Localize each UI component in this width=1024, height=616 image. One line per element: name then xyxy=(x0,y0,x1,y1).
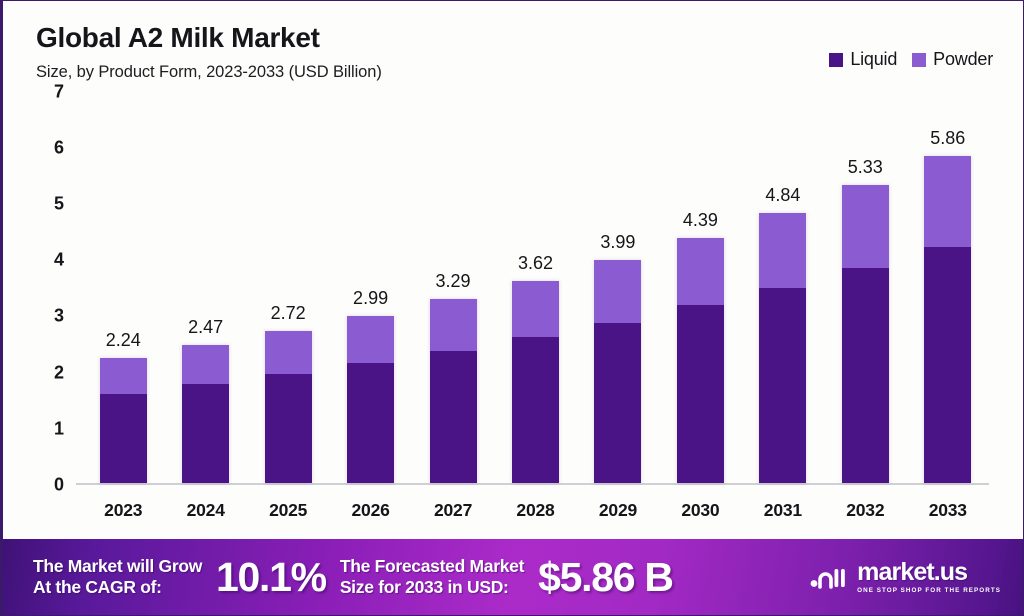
bar-value-label: 3.29 xyxy=(436,271,471,292)
chart-legend: Liquid Powder xyxy=(829,49,993,70)
bar-value-label: 3.62 xyxy=(518,253,553,274)
x-axis-tick: 2024 xyxy=(164,500,246,521)
bar-segment-liquid[interactable] xyxy=(347,363,394,483)
x-axis-tick: 2030 xyxy=(659,500,741,521)
bar-segment-powder[interactable] xyxy=(265,331,312,374)
bar-value-label: 5.86 xyxy=(930,128,965,149)
bar-column[interactable]: 2.72 xyxy=(247,92,329,483)
y-axis-tick: 4 xyxy=(54,250,64,271)
legend-swatch-liquid xyxy=(829,53,843,67)
bar-column[interactable]: 5.86 xyxy=(907,92,989,483)
bar-segment-powder[interactable] xyxy=(842,185,889,268)
cagr-value: 10.1% xyxy=(216,554,326,601)
y-axis-tick: 2 xyxy=(54,362,64,383)
bar-stack[interactable] xyxy=(182,345,229,483)
bar-column[interactable]: 2.47 xyxy=(164,92,246,483)
bar-stack[interactable] xyxy=(842,185,889,483)
bar-segment-powder[interactable] xyxy=(182,345,229,384)
bar-segment-powder[interactable] xyxy=(594,260,641,323)
legend-item-liquid[interactable]: Liquid xyxy=(829,49,897,70)
bar-stack[interactable] xyxy=(924,156,971,483)
bar-value-label: 2.24 xyxy=(106,330,141,351)
legend-swatch-powder xyxy=(912,53,926,67)
chart-header: Global A2 Milk Market Size, by Product F… xyxy=(3,1,1023,82)
y-axis-tick: 3 xyxy=(54,306,64,327)
bar-segment-powder[interactable] xyxy=(759,213,806,288)
logo-mark-icon xyxy=(809,562,849,592)
bar-segment-liquid[interactable] xyxy=(594,323,641,483)
bar-segment-liquid[interactable] xyxy=(842,268,889,483)
market-us-logo[interactable]: market.us ONE STOP SHOP FOR THE REPORTS xyxy=(809,560,1007,594)
bar-segment-liquid[interactable] xyxy=(512,337,559,483)
bar-segment-liquid[interactable] xyxy=(265,374,312,483)
x-axis-tick: 2026 xyxy=(329,500,411,521)
bar-column[interactable]: 4.84 xyxy=(742,92,824,483)
logo-wordmark: market.us xyxy=(857,560,1001,585)
forecast-label: The Forecasted Market Size for 2033 in U… xyxy=(340,556,524,597)
chart-card: Global A2 Milk Market Size, by Product F… xyxy=(0,0,1024,616)
bar-segment-liquid[interactable] xyxy=(430,351,477,483)
x-axis-tick: 2023 xyxy=(82,500,164,521)
x-axis: 2023202420252026202720282029203020312032… xyxy=(82,493,989,527)
y-axis: 01234567 xyxy=(36,92,76,485)
bar-segment-powder[interactable] xyxy=(100,358,147,394)
bar-segment-powder[interactable] xyxy=(430,299,477,350)
bar-stack[interactable] xyxy=(512,281,559,483)
x-axis-tick: 2027 xyxy=(412,500,494,521)
bar-column[interactable]: 4.39 xyxy=(659,92,741,483)
x-axis-tick: 2031 xyxy=(742,500,824,521)
bar-column[interactable]: 2.99 xyxy=(329,92,411,483)
bar-segment-powder[interactable] xyxy=(347,316,394,364)
bar-segment-liquid[interactable] xyxy=(677,305,724,483)
bar-stack[interactable] xyxy=(430,299,477,483)
bar-column[interactable]: 3.29 xyxy=(412,92,494,483)
chart-plot-area: 01234567 2.242.472.722.993.293.623.994.3… xyxy=(36,82,995,539)
bar-value-label: 3.99 xyxy=(600,232,635,253)
bar-segment-liquid[interactable] xyxy=(924,247,971,483)
y-axis-tick: 5 xyxy=(54,194,64,215)
logo-tagline: ONE STOP SHOP FOR THE REPORTS xyxy=(857,588,1001,594)
bar-column[interactable]: 2.24 xyxy=(82,92,164,483)
legend-item-powder[interactable]: Powder xyxy=(912,49,993,70)
bar-segment-powder[interactable] xyxy=(677,238,724,306)
x-axis-tick: 2033 xyxy=(907,500,989,521)
footer-banner: The Market will Grow At the CAGR of: 10.… xyxy=(3,539,1023,615)
bar-segment-liquid[interactable] xyxy=(100,394,147,483)
y-axis-tick: 0 xyxy=(54,475,64,496)
bar-segment-powder[interactable] xyxy=(512,281,559,337)
bar-series-container: 2.242.472.722.993.293.623.994.394.845.33… xyxy=(82,92,989,483)
bar-stack[interactable] xyxy=(759,213,806,483)
x-axis-tick: 2029 xyxy=(577,500,659,521)
x-axis-line xyxy=(76,483,989,485)
legend-label-liquid: Liquid xyxy=(850,49,897,70)
bar-value-label: 2.99 xyxy=(353,288,388,309)
bar-value-label: 4.84 xyxy=(765,185,800,206)
y-axis-tick: 7 xyxy=(54,81,64,102)
bar-column[interactable]: 3.99 xyxy=(577,92,659,483)
y-axis-tick: 1 xyxy=(54,418,64,439)
bar-value-label: 2.47 xyxy=(188,317,223,338)
x-axis-tick: 2028 xyxy=(494,500,576,521)
bar-segment-powder[interactable] xyxy=(924,156,971,247)
bar-stack[interactable] xyxy=(347,316,394,483)
cagr-label: The Market will Grow At the CAGR of: xyxy=(33,556,202,597)
bar-stack[interactable] xyxy=(677,238,724,483)
bar-segment-liquid[interactable] xyxy=(182,384,229,483)
bar-column[interactable]: 3.62 xyxy=(494,92,576,483)
x-axis-tick: 2032 xyxy=(824,500,906,521)
bar-value-label: 2.72 xyxy=(271,303,306,324)
bar-value-label: 4.39 xyxy=(683,210,718,231)
bar-value-label: 5.33 xyxy=(848,157,883,178)
bar-stack[interactable] xyxy=(100,358,147,483)
bar-stack[interactable] xyxy=(265,331,312,483)
legend-label-powder: Powder xyxy=(933,49,993,70)
y-axis-tick: 6 xyxy=(54,137,64,158)
bar-segment-liquid[interactable] xyxy=(759,288,806,483)
bar-column[interactable]: 5.33 xyxy=(824,92,906,483)
x-axis-tick: 2025 xyxy=(247,500,329,521)
bar-stack[interactable] xyxy=(594,260,641,483)
forecast-value: $5.86 B xyxy=(538,554,673,601)
